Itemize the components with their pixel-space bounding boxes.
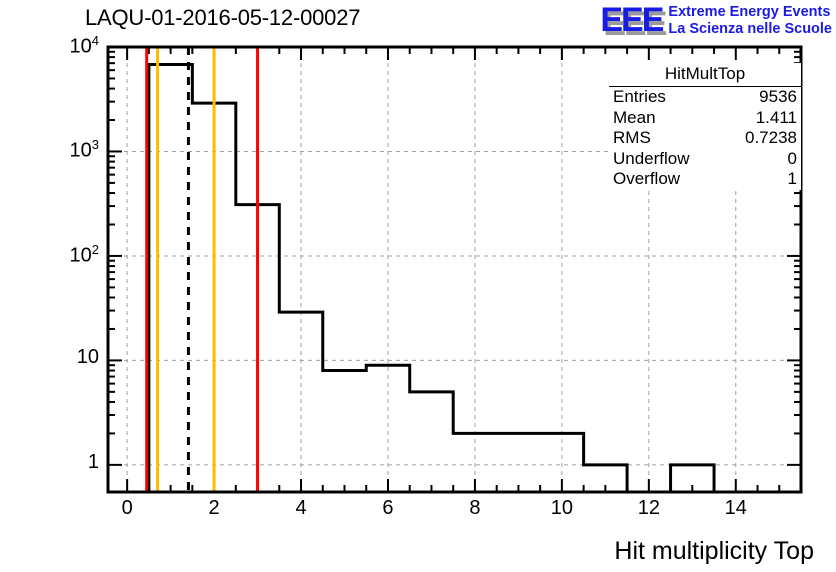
- stats-box: HitMultTop Entries9536Mean1.411RMS0.7238…: [609, 63, 801, 190]
- y-axis-tick-label: 10: [77, 346, 99, 369]
- eee-logo-letters-front: EEE: [600, 1, 662, 39]
- stats-row-label: Underflow: [613, 149, 690, 170]
- page-title: LAQU-01-2016-05-12-00027: [85, 5, 360, 31]
- stats-row: Underflow0: [609, 149, 801, 170]
- stats-row: Entries9536: [609, 87, 801, 108]
- stats-row-label: RMS: [613, 128, 651, 149]
- x-axis-tick-label: 10: [532, 497, 592, 520]
- x-axis-tick-label: 12: [619, 497, 679, 520]
- y-axis-tick-label: 102: [70, 242, 99, 268]
- x-axis-tick-label: 0: [97, 497, 157, 520]
- x-axis-tick-label: 8: [445, 497, 505, 520]
- eee-logo-line2: La Scienza nelle Scuole: [668, 21, 832, 38]
- stats-box-rows: Entries9536Mean1.411RMS0.7238Underflow0O…: [609, 87, 801, 190]
- x-axis-tick-label: 14: [706, 497, 766, 520]
- y-axis-tick-label: 104: [70, 33, 99, 59]
- x-axis-tick-label: 4: [271, 497, 331, 520]
- stats-row: Overflow1: [609, 169, 801, 190]
- stats-row-value: 0: [788, 149, 797, 170]
- y-axis-tick-label: 103: [70, 137, 99, 163]
- y-axis-tick-label: 1: [88, 451, 99, 474]
- eee-logo-line1: Extreme Energy Events: [668, 4, 832, 21]
- x-axis-tick-label: 2: [184, 497, 244, 520]
- stats-row-value: 1: [788, 169, 797, 190]
- stats-row: Mean1.411: [609, 108, 801, 129]
- eee-logo: EEE EEE Extreme Energy Events La Scienza…: [600, 2, 832, 38]
- eee-logo-letters: EEE EEE: [600, 3, 662, 37]
- stats-box-title: HitMultTop: [609, 63, 801, 87]
- stats-row-value: 0.7238: [745, 128, 797, 149]
- stats-row-label: Mean: [613, 108, 656, 129]
- x-axis-tick-label: 6: [358, 497, 418, 520]
- eee-logo-text: Extreme Energy Events La Scienza nelle S…: [668, 2, 832, 38]
- stats-row-label: Overflow: [613, 169, 680, 190]
- stats-row-value: 9536: [759, 87, 797, 108]
- stats-row-label: Entries: [613, 87, 666, 108]
- stats-row-value: 1.411: [756, 108, 797, 129]
- stats-row: RMS0.7238: [609, 128, 801, 149]
- x-axis-title: Hit multiplicity Top: [614, 537, 814, 566]
